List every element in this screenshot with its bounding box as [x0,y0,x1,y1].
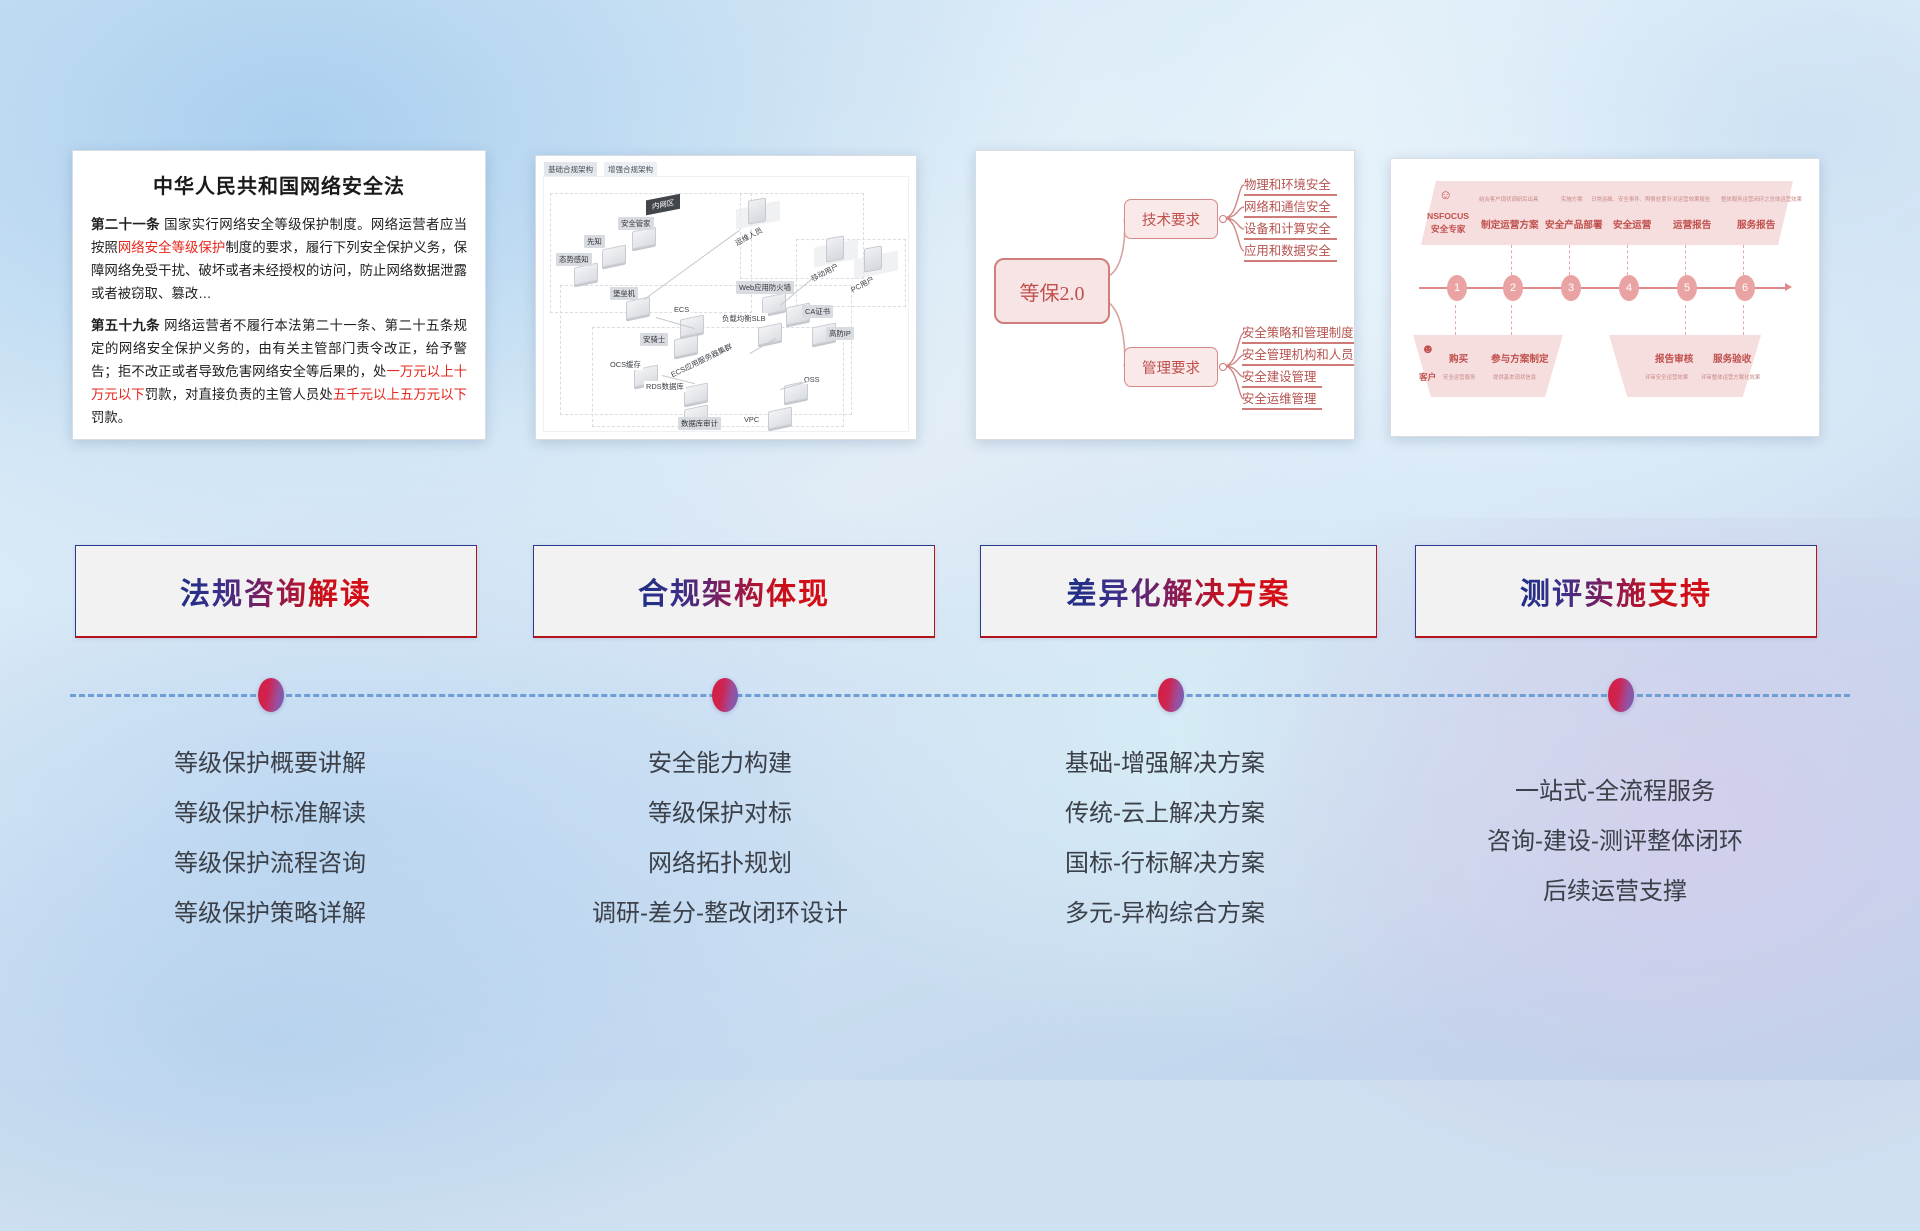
detail-column-1: 安全能力构建 等级保护对标 网络拓扑规划 调研-差分-整改闭环设计 [510,752,930,952]
timeline-marker-3[interactable] [1608,678,1634,712]
headline-label-1: 合规架构体现 [638,569,830,613]
list-item: 等级保护流程咨询 [60,852,480,876]
list-item: 基础-增强解决方案 [955,752,1375,776]
timeline-marker-0[interactable] [258,678,284,712]
detail-column-3: 一站式-全流程服务 咨询-建设-测评整体闭环 后续运营支撑 [1395,780,1835,930]
list-item: 等级保护概要讲解 [60,752,480,776]
headline-box-regulation-consulting[interactable]: 法规咨询解读 [75,545,477,638]
list-item: 咨询-建设-测评整体闭环 [1395,830,1835,854]
process-timeline-line [70,694,1850,699]
headline-box-evaluation-support[interactable]: 测评实施支持 [1415,545,1817,638]
detail-column-0: 等级保护概要讲解 等级保护标准解读 等级保护流程咨询 等级保护策略详解 [60,752,480,952]
list-item: 一站式-全流程服务 [1395,780,1835,804]
list-item: 等级保护策略详解 [60,902,480,926]
timeline-marker-2[interactable] [1158,678,1184,712]
headline-label-2: 差异化解决方案 [1067,569,1291,613]
list-item: 调研-差分-整改闭环设计 [510,902,930,926]
list-item: 国标-行标解决方案 [955,852,1375,876]
list-item: 多元-异构综合方案 [955,902,1375,926]
headline-box-compliance-architecture[interactable]: 合规架构体现 [533,545,935,638]
timeline-marker-1[interactable] [712,678,738,712]
list-item: 网络拓扑规划 [510,852,930,876]
headline-label-3: 测评实施支持 [1520,569,1712,613]
detail-column-2: 基础-增强解决方案 传统-云上解决方案 国标-行标解决方案 多元-异构综合方案 [955,752,1375,952]
list-item: 安全能力构建 [510,752,930,776]
list-item: 后续运营支撑 [1395,880,1835,904]
list-item: 传统-云上解决方案 [955,802,1375,826]
list-item: 等级保护标准解读 [60,802,480,826]
headline-label-0: 法规咨询解读 [180,569,372,613]
headline-box-differentiated-solution[interactable]: 差异化解决方案 [980,545,1377,638]
list-item: 等级保护对标 [510,802,930,826]
